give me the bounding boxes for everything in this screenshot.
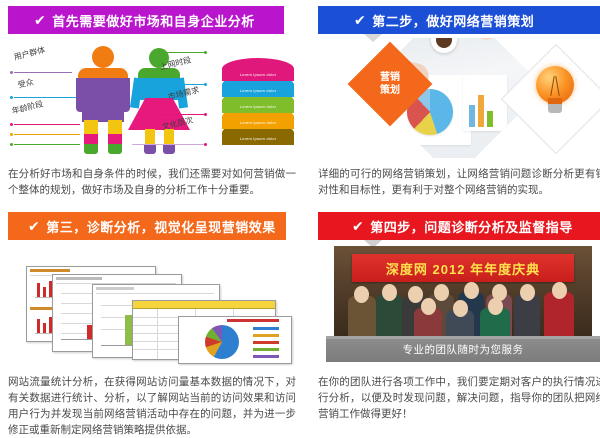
step-4-body-text: 在你的团队进行各项工作中，我们要定期对客户的执行情况进行分析，以便及时发现问题，…	[318, 374, 600, 422]
hand-writing	[468, 38, 523, 44]
report-screenshot-fan	[8, 244, 298, 366]
db-label-2: Lorem ipsum dolor	[222, 88, 294, 93]
db-label-3: Lorem ipsum dolor	[222, 104, 294, 109]
legend-swatch	[253, 348, 279, 351]
db-label-4: Lorem ipsum dolor	[222, 120, 294, 125]
team-caption-text: 专业的团队随时为您服务	[403, 342, 524, 357]
step-1-body-text: 在分析好市场和自身条件的时候，我们还需要对如何营销做一个整体的规划，做好市场及自…	[8, 166, 296, 198]
bulb-base	[548, 104, 562, 113]
team-member-face	[488, 298, 503, 315]
female-figure-foot-right	[163, 145, 175, 154]
badge-line-1: 营销	[380, 72, 400, 83]
legend-swatch	[253, 341, 279, 344]
bar	[478, 95, 484, 127]
step-2-body-text: 详细的可行的网络营销策划，让网络营销问题诊断分析更有针对性和目标性，更有利于对整…	[318, 166, 600, 198]
step-1-title: 首先需要做好市场和自身企业分析	[52, 11, 255, 30]
check-icon: ✔	[354, 13, 366, 27]
leader-line	[132, 144, 204, 145]
leader-dot	[204, 113, 207, 116]
step-4-title: 第四步，问题诊断分析及监督指导	[370, 217, 573, 236]
team-member-face	[434, 284, 449, 301]
quadrant-step-4: ✔ 第四步，问题诊断分析及监督指导 深度网 2012 年年度庆典	[318, 212, 600, 422]
quadrant-step-3: ✔ 第三，诊断分析，视觉化呈现营销效果	[8, 212, 298, 438]
leader-dot	[204, 51, 207, 54]
db-label-1: Lorem ipsum dolor	[222, 72, 294, 77]
check-icon: ✔	[352, 219, 364, 233]
step-3-title: 第三，诊断分析，视觉化呈现营销效果	[46, 217, 276, 236]
step-1-header: ✔ 首先需要做好市场和自身企业分析	[8, 6, 284, 34]
label-age-range: 年龄阶段	[11, 98, 45, 116]
legend-swatch	[253, 334, 279, 337]
male-figure-foot-left	[84, 144, 98, 154]
team-photo: 深度网 2012 年年度庆典	[334, 246, 592, 338]
caption-bar-top-edge	[326, 336, 600, 339]
team-caption-bar: 专业的团队随时为您服务	[326, 336, 600, 362]
bar	[43, 323, 46, 333]
leader-dot	[10, 143, 13, 146]
team-member-face	[552, 282, 567, 299]
leader-line	[14, 124, 80, 125]
leader-line	[158, 52, 204, 53]
step-4-illustration: 深度网 2012 年年度庆典	[318, 244, 600, 366]
report-title-bar	[56, 277, 102, 280]
leader-dot	[10, 133, 13, 136]
team-member-face	[520, 284, 535, 301]
leader-line	[158, 114, 204, 115]
male-figure-arm-left	[76, 78, 87, 112]
team-member-face	[421, 298, 436, 315]
bar	[487, 111, 493, 127]
leader-dot	[10, 123, 13, 126]
legend-swatch	[253, 355, 279, 358]
table-header-row	[133, 301, 275, 309]
quadrant-step-1: ✔ 首先需要做好市场和自身企业分析 用户群体 受众 年龄阶段	[8, 6, 298, 198]
report-rule	[96, 293, 214, 294]
leader-line	[14, 134, 80, 135]
step-3-body-text: 网站流量统计分析，在获得网站访问量基本数据的情况下，对有关数据进行统计、分析，以…	[8, 374, 296, 438]
step-2-illustration: 营销 策划	[318, 38, 600, 158]
legend-swatch	[253, 327, 279, 330]
lightbulb-icon	[536, 66, 574, 112]
team-member-face	[408, 286, 423, 303]
table-col-rule	[157, 309, 158, 359]
team-member-face	[354, 286, 369, 303]
step-3-header: ✔ 第三，诊断分析，视觉化呈现营销效果	[8, 212, 286, 240]
step-2-header: ✔ 第二步，做好网络营销策划	[318, 6, 600, 34]
report-title-bar	[96, 287, 134, 290]
leader-line	[14, 97, 76, 98]
anniversary-banner: 深度网 2012 年年度庆典	[352, 254, 574, 282]
male-figure-shin-left	[84, 134, 98, 144]
pie-chart	[205, 325, 239, 359]
label-user-group: 用户群体	[13, 44, 47, 62]
report-title-bar	[30, 269, 70, 272]
database-stack: Lorem ipsum dolor Lorem ipsum dolor Lore…	[222, 64, 294, 146]
step-3-illustration	[8, 244, 298, 366]
female-figure-foot-left	[144, 145, 156, 154]
male-figure-head	[92, 46, 114, 68]
male-figure-foot-right	[108, 144, 122, 154]
check-icon: ✔	[28, 219, 40, 233]
bar	[37, 283, 40, 297]
label-audience: 受众	[17, 76, 35, 91]
bar	[43, 287, 46, 297]
step-2-title: 第二步，做好网络营销策划	[372, 11, 534, 30]
male-figure-shin-right	[108, 134, 122, 144]
bar	[37, 319, 40, 333]
people-database-infographic: 用户群体 受众 年龄阶段	[8, 38, 298, 158]
leader-dot	[204, 143, 207, 146]
male-figure-arm-right	[119, 78, 130, 112]
step-4-header: ✔ 第四步，问题诊断分析及监督指导	[318, 212, 600, 240]
team-member-face	[464, 282, 479, 299]
team-member-face	[453, 300, 468, 317]
leader-dot	[204, 83, 207, 86]
db-label-5: Lorem ipsum dolor	[222, 136, 294, 141]
leader-line	[14, 72, 72, 73]
leader-dot	[10, 71, 13, 74]
badge-line-2: 策划	[380, 85, 400, 96]
leader-line	[14, 144, 80, 145]
four-step-infographic: ✔ 首先需要做好市场和自身企业分析 用户群体 受众 年龄阶段	[0, 0, 600, 437]
step-1-illustration: 用户群体 受众 年龄阶段	[8, 38, 298, 158]
leader-dot	[10, 96, 13, 99]
check-icon: ✔	[34, 13, 46, 27]
diamond-photo-composition: 营销 策划	[318, 38, 600, 158]
team-member-face	[382, 284, 397, 301]
quadrant-step-2: ✔ 第二步，做好网络营销策划	[318, 6, 600, 198]
bar	[469, 105, 475, 127]
report-sheet-5	[178, 316, 292, 364]
report-title-bar	[227, 319, 279, 322]
